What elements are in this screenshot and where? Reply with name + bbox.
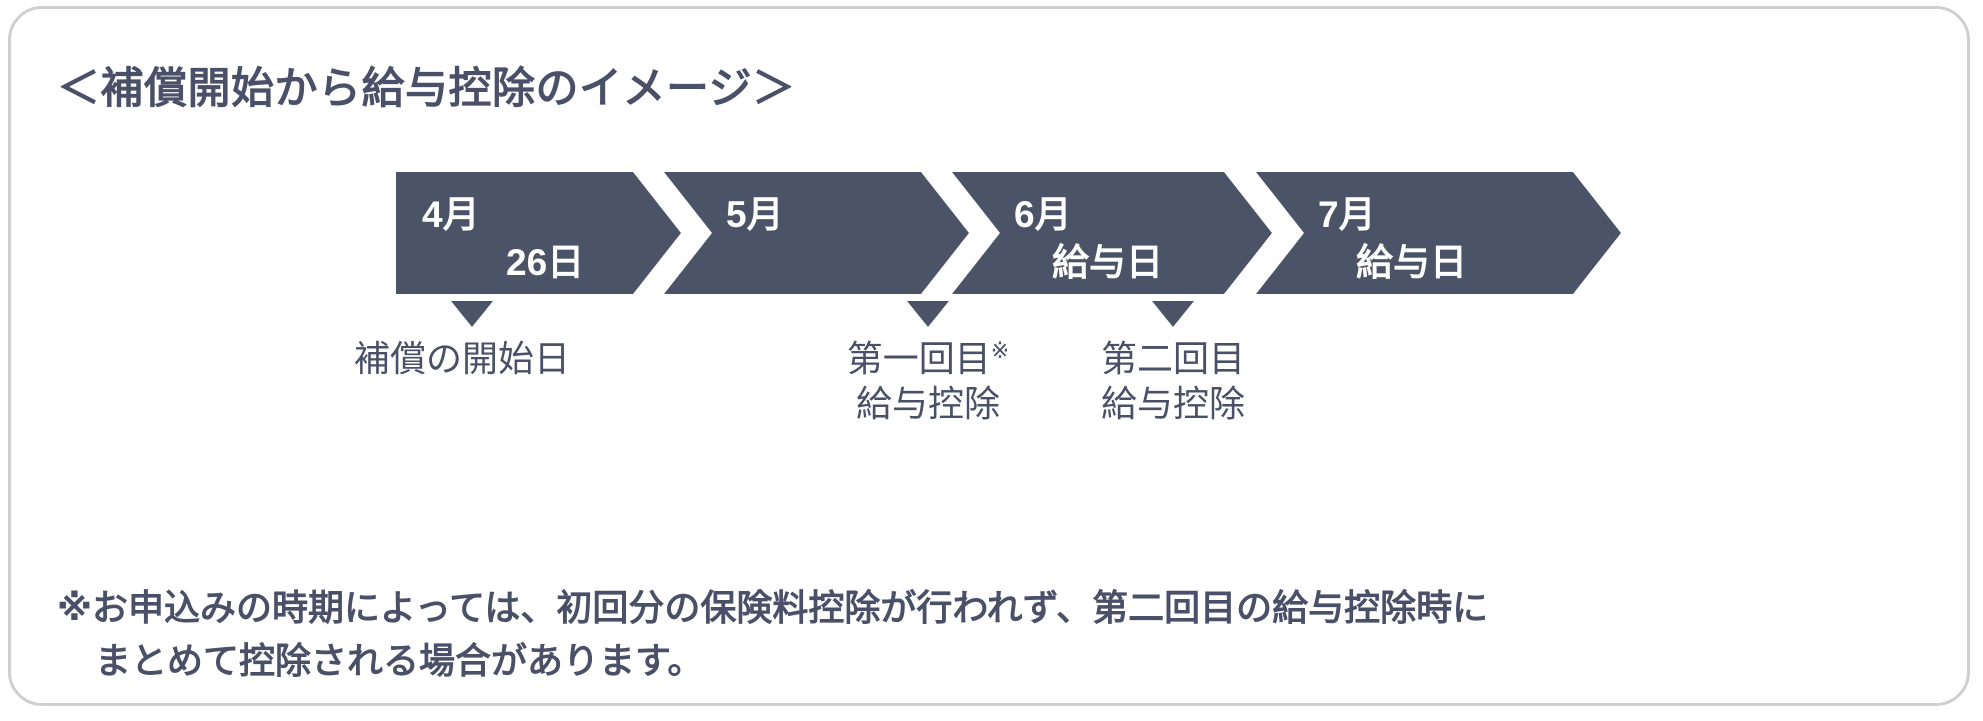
page-title: ＜補償開始から給与控除のイメージ＞	[57, 54, 796, 116]
timeline-step-3-month: 6月	[1014, 184, 1072, 238]
timeline-chevrons: 4月 26日 5月 6月 給与日 7月 給与日	[396, 172, 1621, 294]
annotation-3: 第二回目 給与控除	[1003, 336, 1343, 427]
timeline-step-1-sub: 26日	[506, 232, 584, 286]
timeline-step-4: 7月 給与日	[1256, 172, 1621, 294]
down-triangle-icon-2	[907, 301, 949, 327]
timeline-step-4-sub: 給与日	[1356, 232, 1467, 286]
down-triangle-icon-3	[1152, 301, 1194, 327]
footnote-line-2: まとめて控除される場合があります。	[57, 634, 1488, 687]
timeline-step-3: 6月 給与日	[952, 172, 1272, 294]
timeline-step-1-month: 4月	[422, 184, 480, 238]
annotation-2-line2: 給与控除	[856, 383, 1000, 424]
annotation-1-line1: 補償の開始日	[354, 338, 570, 379]
annotation-2-line1: 第一回目	[847, 338, 991, 379]
footnote: ※お申込みの時期によっては、初回分の保険料控除が行われず、第二回目の給与控除時に…	[57, 581, 1488, 688]
timeline-step-3-sub: 給与日	[1052, 232, 1163, 286]
footnote-line-1: ※お申込みの時期によっては、初回分の保険料控除が行われず、第二回目の給与控除時に	[57, 587, 1488, 628]
annotation-3-line2: 給与控除	[1101, 383, 1245, 424]
timeline-step-2-month: 5月	[726, 184, 784, 238]
timeline-step-1: 4月 26日	[396, 172, 681, 294]
annotation-1: 補償の開始日	[292, 336, 632, 381]
info-panel: ＜補償開始から給与控除のイメージ＞ 4月 26日 5月 6月 給与日 7月 給与…	[8, 6, 1970, 706]
down-triangle-icon-1	[451, 301, 493, 327]
annotation-3-line1: 第二回目	[1101, 338, 1245, 379]
timeline-step-2: 5月	[664, 172, 969, 294]
timeline-step-4-month: 7月	[1318, 184, 1376, 238]
